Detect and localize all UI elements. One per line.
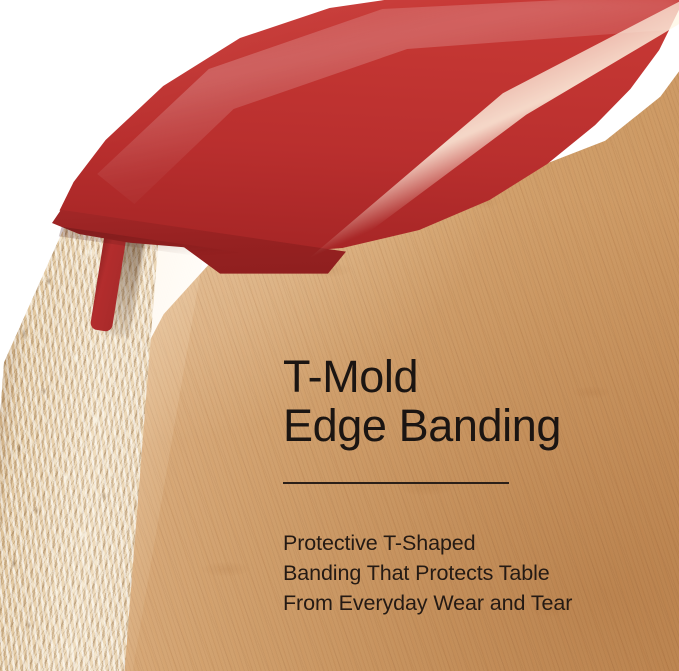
- product-image-stage: T-Mold Edge Banding Protective T-Shaped …: [0, 0, 679, 671]
- divider-rule: [283, 482, 509, 484]
- headline: T-Mold Edge Banding: [283, 352, 643, 450]
- subcopy: Protective T-Shaped Banding That Protect…: [283, 528, 633, 618]
